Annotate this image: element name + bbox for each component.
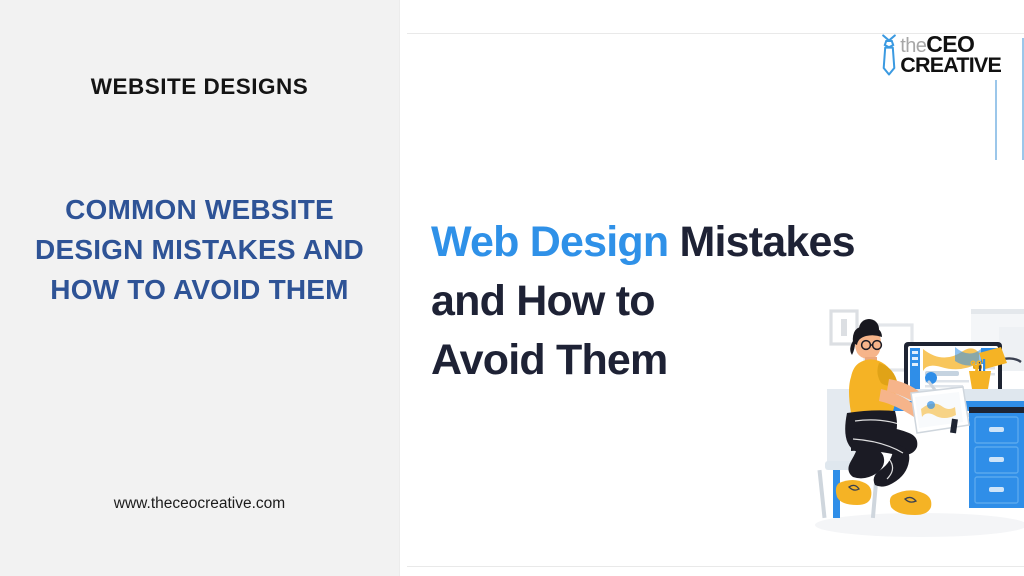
tablet bbox=[911, 387, 969, 433]
headline-line2: and How to bbox=[431, 277, 655, 325]
headline-line3: Avoid Them bbox=[431, 336, 667, 384]
logo-creative-text: CREATIVE bbox=[900, 55, 1001, 77]
left-panel: WEBSITE DESIGNS COMMON WEBSITE DESIGN MI… bbox=[0, 0, 399, 576]
slide-canvas: WEBSITE DESIGNS COMMON WEBSITE DESIGN MI… bbox=[0, 0, 1024, 576]
woman-designing-at-desk-illustration bbox=[803, 297, 1024, 540]
headline-highlight: Web Design bbox=[431, 218, 668, 266]
necktie-icon bbox=[879, 33, 899, 77]
shoe-back bbox=[836, 480, 872, 505]
website-url[interactable]: www.theceocreative.com bbox=[0, 495, 399, 513]
page-title: COMMON WEBSITE DESIGN MISTAKES AND HOW T… bbox=[12, 190, 387, 310]
panel-left-edge bbox=[399, 0, 400, 576]
right-panel: theCEO CREATIVE Web Design Mistakes and … bbox=[399, 0, 1024, 576]
bottom-divider bbox=[407, 566, 1024, 567]
hero-illustration bbox=[803, 297, 1024, 540]
accent-vertical-line-inner bbox=[995, 80, 997, 160]
brand-logo[interactable]: theCEO CREATIVE bbox=[879, 32, 1001, 78]
shoe-front bbox=[890, 490, 931, 515]
kicker-label: WEBSITE DESIGNS bbox=[0, 74, 399, 100]
logo-wordmark: theCEO CREATIVE bbox=[900, 33, 1001, 77]
headline-line1-rest: Mistakes bbox=[668, 218, 854, 266]
filing-cabinet bbox=[969, 407, 1024, 508]
